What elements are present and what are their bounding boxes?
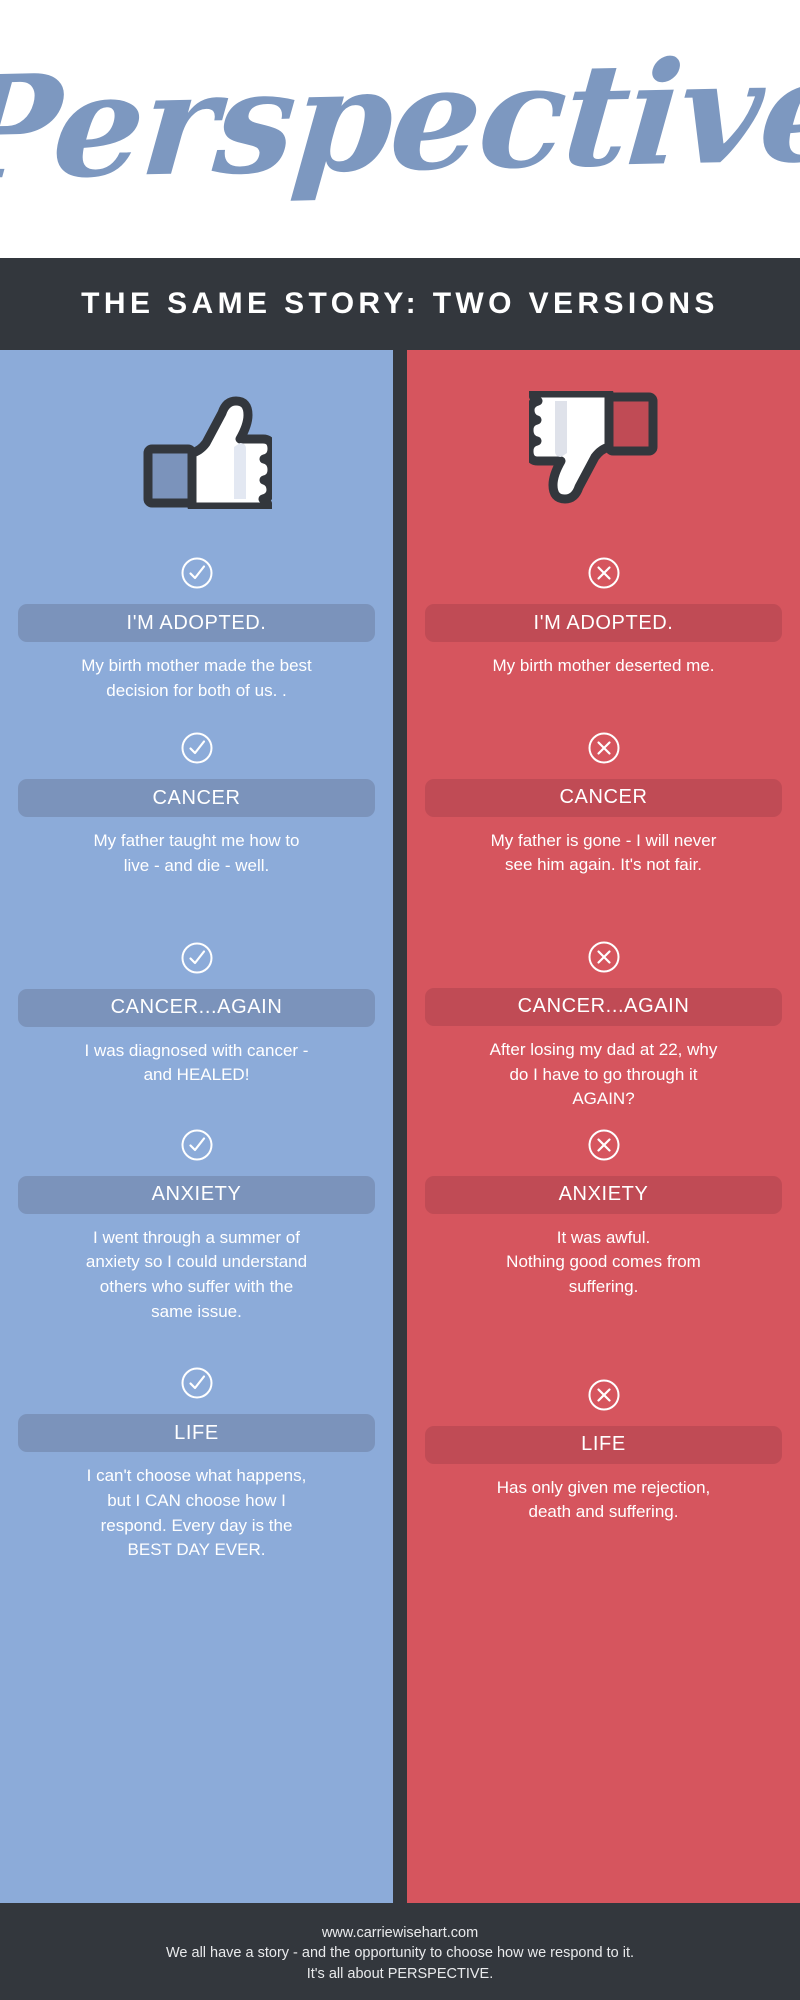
label-text: I'M ADOPTED. (127, 612, 267, 635)
x-circle-icon-wrap (425, 1122, 782, 1168)
x-circle-icon-wrap (425, 934, 782, 980)
check-circle-icon (180, 1366, 214, 1400)
label-pill: LIFE (18, 1414, 375, 1452)
subheader-text: THE SAME STORY: TWO VERSIONS (81, 287, 719, 321)
check-circle-icon (180, 731, 214, 765)
label-text: CANCER...AGAIN (518, 995, 690, 1018)
body-text: I can't choose what happens, but I CAN c… (18, 1452, 375, 1563)
x-circle-icon (587, 940, 621, 974)
check-circle-icon (180, 1128, 214, 1162)
footer-website[interactable]: www.carriewisehart.com (322, 1923, 478, 1944)
infographic-page: Perspective THE SAME STORY: TWO VERSIONS (0, 0, 800, 2000)
x-circle-icon-wrap (425, 550, 782, 596)
comparison-columns: I'M ADOPTED. My birth mother made the be… (0, 350, 800, 1903)
body-text: I went through a summer of anxiety so I … (18, 1214, 375, 1325)
section-cancer-again-negative: CANCER...AGAIN After losing my dad at 22… (407, 934, 800, 1112)
section-adopted-negative: I'M ADOPTED. My birth mother deserted me… (407, 550, 800, 679)
x-circle-icon (587, 1378, 621, 1412)
sections-negative: I'M ADOPTED. My birth mother deserted me… (407, 550, 800, 1525)
thumbs-up-icon (122, 391, 272, 509)
thumbs-down-icon-wrap (407, 350, 800, 550)
sections-positive: I'M ADOPTED. My birth mother made the be… (0, 550, 393, 1563)
footer-tagline-1: We all have a story - and the opportunit… (166, 1943, 634, 1964)
section-cancer-positive: CANCER My father taught me how to live -… (0, 725, 393, 878)
label-pill: I'M ADOPTED. (18, 604, 375, 642)
thumbs-up-icon-wrap (0, 350, 393, 550)
label-pill: CANCER (18, 779, 375, 817)
thumbs-down-icon (529, 391, 679, 509)
footer-band: www.carriewisehart.com We all have a sto… (0, 1903, 800, 2000)
body-text: My birth mother deserted me. (425, 642, 782, 679)
column-positive: I'M ADOPTED. My birth mother made the be… (0, 350, 393, 1903)
label-text: I'M ADOPTED. (534, 612, 674, 635)
column-divider (393, 350, 407, 1903)
x-circle-icon-wrap (425, 725, 782, 771)
body-text: Has only given me rejection, death and s… (425, 1464, 782, 1525)
label-text: ANXIETY (559, 1183, 649, 1206)
column-negative: I'M ADOPTED. My birth mother deserted me… (407, 350, 800, 1903)
label-pill: CANCER...AGAIN (425, 988, 782, 1026)
body-text: My birth mother made the best decision f… (18, 642, 375, 703)
label-text: LIFE (174, 1422, 219, 1445)
check-circle-icon-wrap (18, 725, 375, 771)
section-cancer-again-positive: CANCER...AGAIN I was diagnosed with canc… (0, 935, 393, 1088)
x-circle-icon (587, 731, 621, 765)
section-anxiety-negative: ANXIETY It was awful. Nothing good comes… (407, 1122, 800, 1300)
label-text: ANXIETY (152, 1183, 242, 1206)
body-text: I was diagnosed with cancer - and HEALED… (18, 1027, 375, 1088)
label-pill: CANCER...AGAIN (18, 989, 375, 1027)
subheader-banner: THE SAME STORY: TWO VERSIONS (0, 258, 800, 350)
page-title: Perspective (0, 40, 800, 219)
body-text: It was awful. Nothing good comes from su… (425, 1214, 782, 1300)
label-pill: I'M ADOPTED. (425, 604, 782, 642)
body-text: My father is gone - I will never see him… (425, 817, 782, 878)
label-text: CANCER (152, 787, 240, 810)
check-circle-icon-wrap (18, 550, 375, 596)
check-circle-icon-wrap (18, 1122, 375, 1168)
check-circle-icon-wrap (18, 935, 375, 981)
body-text: My father taught me how to live - and di… (18, 817, 375, 878)
section-adopted-positive: I'M ADOPTED. My birth mother made the be… (0, 550, 393, 703)
label-pill: ANXIETY (18, 1176, 375, 1214)
section-life-negative: LIFE Has only given me rejection, death … (407, 1372, 800, 1525)
footer-tagline-2: It's all about PERSPECTIVE. (307, 1964, 494, 1985)
label-text: CANCER (559, 786, 647, 809)
section-cancer-negative: CANCER My father is gone - I will never … (407, 725, 800, 878)
section-life-positive: LIFE I can't choose what happens, but I … (0, 1360, 393, 1563)
body-text: After losing my dad at 22, why do I have… (425, 1026, 782, 1112)
x-circle-icon (587, 1128, 621, 1162)
section-anxiety-positive: ANXIETY I went through a summer of anxie… (0, 1122, 393, 1325)
label-text: LIFE (581, 1433, 626, 1456)
label-pill: LIFE (425, 1426, 782, 1464)
label-pill: ANXIETY (425, 1176, 782, 1214)
check-circle-icon (180, 556, 214, 590)
x-circle-icon-wrap (425, 1372, 782, 1418)
x-circle-icon (587, 556, 621, 590)
label-pill: CANCER (425, 779, 782, 817)
label-text: CANCER...AGAIN (111, 996, 283, 1019)
title-band: Perspective (0, 0, 800, 258)
check-circle-icon (180, 941, 214, 975)
check-circle-icon-wrap (18, 1360, 375, 1406)
